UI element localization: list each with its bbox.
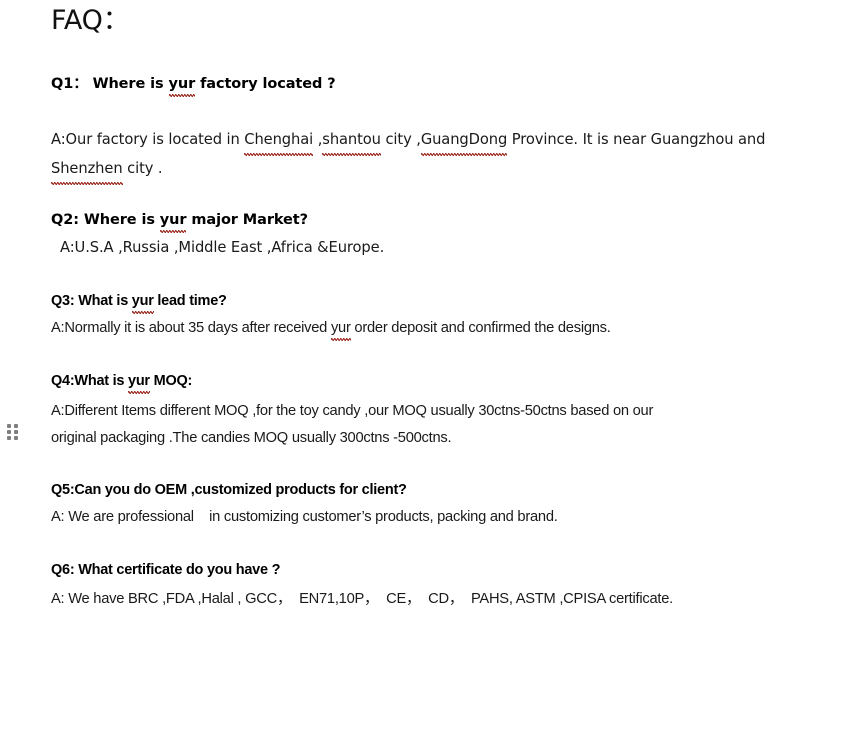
drag-handle-dot: [14, 436, 18, 440]
answer-q2: A:U.S.A ,Russia ,Middle East ,Africa &Eu…: [51, 237, 384, 259]
drag-handle-dot: [14, 424, 18, 428]
question-q5-text: Q5:Can you do OEM ,customized products f…: [51, 480, 407, 501]
a1-seg-a: A:Our factory is located in: [51, 131, 244, 148]
answer-q3-text: A:Normally it is about 35 days after rec…: [51, 317, 611, 339]
page-title: FAQ：: [51, 0, 130, 38]
answer-q3: A:Normally it is about 35 days after rec…: [51, 317, 611, 339]
question-q1: Q1： Where is yur factory located ?: [51, 74, 336, 95]
question-q4: Q4:What is yur MOQ:: [51, 371, 192, 392]
a1-seg-b: ,: [313, 131, 322, 148]
question-q5: Q5:Can you do OEM ,customized products f…: [51, 480, 407, 501]
drag-handle-icon[interactable]: [7, 424, 19, 440]
a3-misspelled-word: yur: [331, 317, 351, 339]
question-q4-text: Q4:What is yur MOQ:: [51, 371, 192, 392]
q4-tail: MOQ:: [150, 373, 192, 389]
page-title-row: FAQ：: [51, 0, 130, 38]
a1-seg-c: city ,: [381, 131, 421, 148]
a1-misspelled-shenzhen: Shenzhen: [51, 155, 123, 183]
q1-tail: factory located ?: [195, 76, 335, 92]
question-q6-text: Q6: What certificate do you have ?: [51, 560, 280, 581]
question-q1-text: Q1： Where is yur factory located ?: [51, 74, 336, 95]
q3-lead: Q3: What is: [51, 293, 132, 309]
q4-lead: Q4:What is: [51, 373, 128, 389]
answer-q6: A: We have BRC ,FDA ,Halal , GCC， EN71,1…: [51, 588, 673, 610]
answer-q1-line1: A:Our factory is located in Chenghai ,sh…: [51, 126, 765, 154]
answer-q1-line2-text: Shenzhen city .: [51, 155, 162, 183]
drag-handle-dot: [7, 436, 11, 440]
q3-tail: lead time?: [154, 293, 227, 309]
q2-misspelled-word: yur: [160, 210, 187, 231]
answer-q2-text: A:U.S.A ,Russia ,Middle East ,Africa &Eu…: [60, 237, 384, 259]
a1-seg-d: Province. It is near Guangzhou and: [507, 131, 765, 148]
document-page: FAQ： Q1： Where is yur factory located ? …: [0, 0, 850, 737]
answer-q6-text: A: We have BRC ,FDA ,Halal , GCC， EN71,1…: [51, 588, 673, 610]
answer-q1-line1-text: A:Our factory is located in Chenghai ,sh…: [51, 126, 765, 154]
drag-handle-dot: [14, 430, 18, 434]
a1-misspelled-chenghai: Chenghai: [244, 126, 313, 154]
question-q2-text: Q2: Where is yur major Market?: [51, 210, 308, 231]
answer-q5-text: A: We are professional in customizing cu…: [51, 506, 558, 528]
a1-misspelled-shantou: shantou: [322, 126, 381, 154]
answer-q1-line2: Shenzhen city .: [51, 155, 162, 183]
a1-seg-e: city .: [123, 160, 163, 177]
drag-handle-dot: [7, 424, 11, 428]
question-q6: Q6: What certificate do you have ?: [51, 560, 280, 581]
answer-q5: A: We are professional in customizing cu…: [51, 506, 558, 528]
question-q3: Q3: What is yur lead time?: [51, 291, 227, 312]
answer-q4-line1: A:Different Items different MOQ ,for the…: [51, 397, 653, 425]
q4-misspelled-word: yur: [128, 371, 150, 392]
answer-q4-line2-text: original packaging .The candies MOQ usua…: [51, 424, 451, 452]
question-q3-text: Q3: What is yur lead time?: [51, 291, 227, 312]
q1-lead: Q1： Where is: [51, 76, 169, 92]
q1-misspelled-word: yur: [169, 74, 196, 95]
a3-seg-a: A:Normally it is about 35 days after rec…: [51, 320, 331, 336]
drag-handle-dot: [7, 430, 11, 434]
q3-misspelled-word: yur: [132, 291, 154, 312]
a3-seg-b: order deposit and confirmed the designs.: [351, 320, 611, 336]
answer-q4-line2: original packaging .The candies MOQ usua…: [51, 424, 451, 452]
q2-tail: major Market?: [186, 212, 307, 228]
a1-misspelled-guangdong: GuangDong: [421, 126, 507, 154]
answer-q4-line1-text: A:Different Items different MOQ ,for the…: [51, 397, 653, 425]
q2-lead: Q2: Where is: [51, 212, 160, 228]
question-q2: Q2: Where is yur major Market?: [51, 210, 308, 231]
